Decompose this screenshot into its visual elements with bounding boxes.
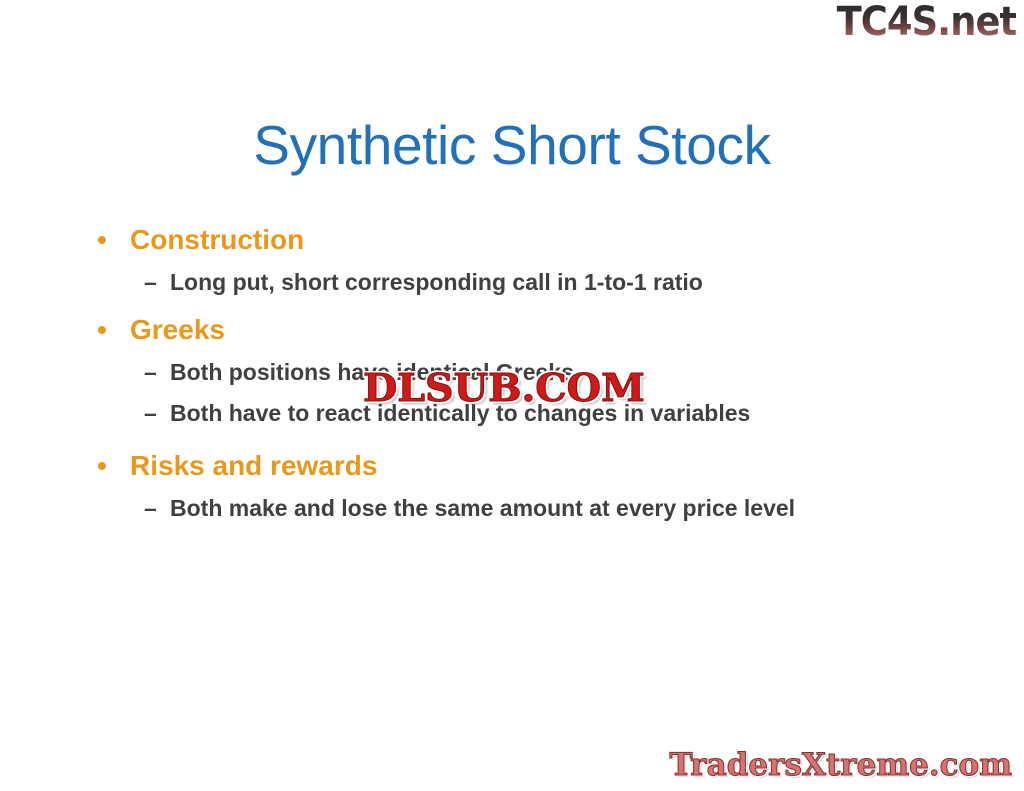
tradersxtreme-footer-watermark: TradersXtreme.com — [669, 747, 1012, 783]
bullet-level1-construction: • Construction — [88, 218, 968, 262]
dash-bullet-icon: – — [144, 263, 157, 301]
bullet-level1-risks-and-rewards: • Risks and rewards — [88, 444, 968, 488]
presentation-slide: TC4S.net Synthetic Short Stock • Constru… — [0, 0, 1024, 791]
bullet-dot-icon: • — [97, 308, 107, 352]
bullet-level1-label: Construction — [130, 224, 304, 255]
bullet-level2-label: Both make and lose the same amount at ev… — [170, 495, 795, 521]
spacer — [88, 435, 968, 444]
dash-bullet-icon: – — [144, 394, 157, 432]
bullet-level1-label: Greeks — [130, 314, 225, 345]
bullet-dot-icon: • — [97, 218, 107, 262]
tc4s-brand-logo: TC4S.net — [836, 2, 1016, 42]
bullet-dot-icon: • — [97, 444, 107, 488]
page-title: Synthetic Short Stock — [0, 112, 1024, 178]
bullet-level2-label: Long put, short corresponding call in 1-… — [170, 269, 703, 295]
dash-bullet-icon: – — [144, 489, 157, 527]
dlsub-overlay-watermark: DLSUB.COM — [363, 368, 645, 408]
dash-bullet-icon: – — [144, 353, 157, 391]
bullet-level2-construction-1: – Long put, short corresponding call in … — [88, 263, 968, 301]
bullet-level1-greeks: • Greeks — [88, 308, 968, 352]
bullet-level2-risks-1: – Both make and lose the same amount at … — [88, 489, 968, 527]
bullet-level1-label: Risks and rewards — [130, 450, 377, 481]
